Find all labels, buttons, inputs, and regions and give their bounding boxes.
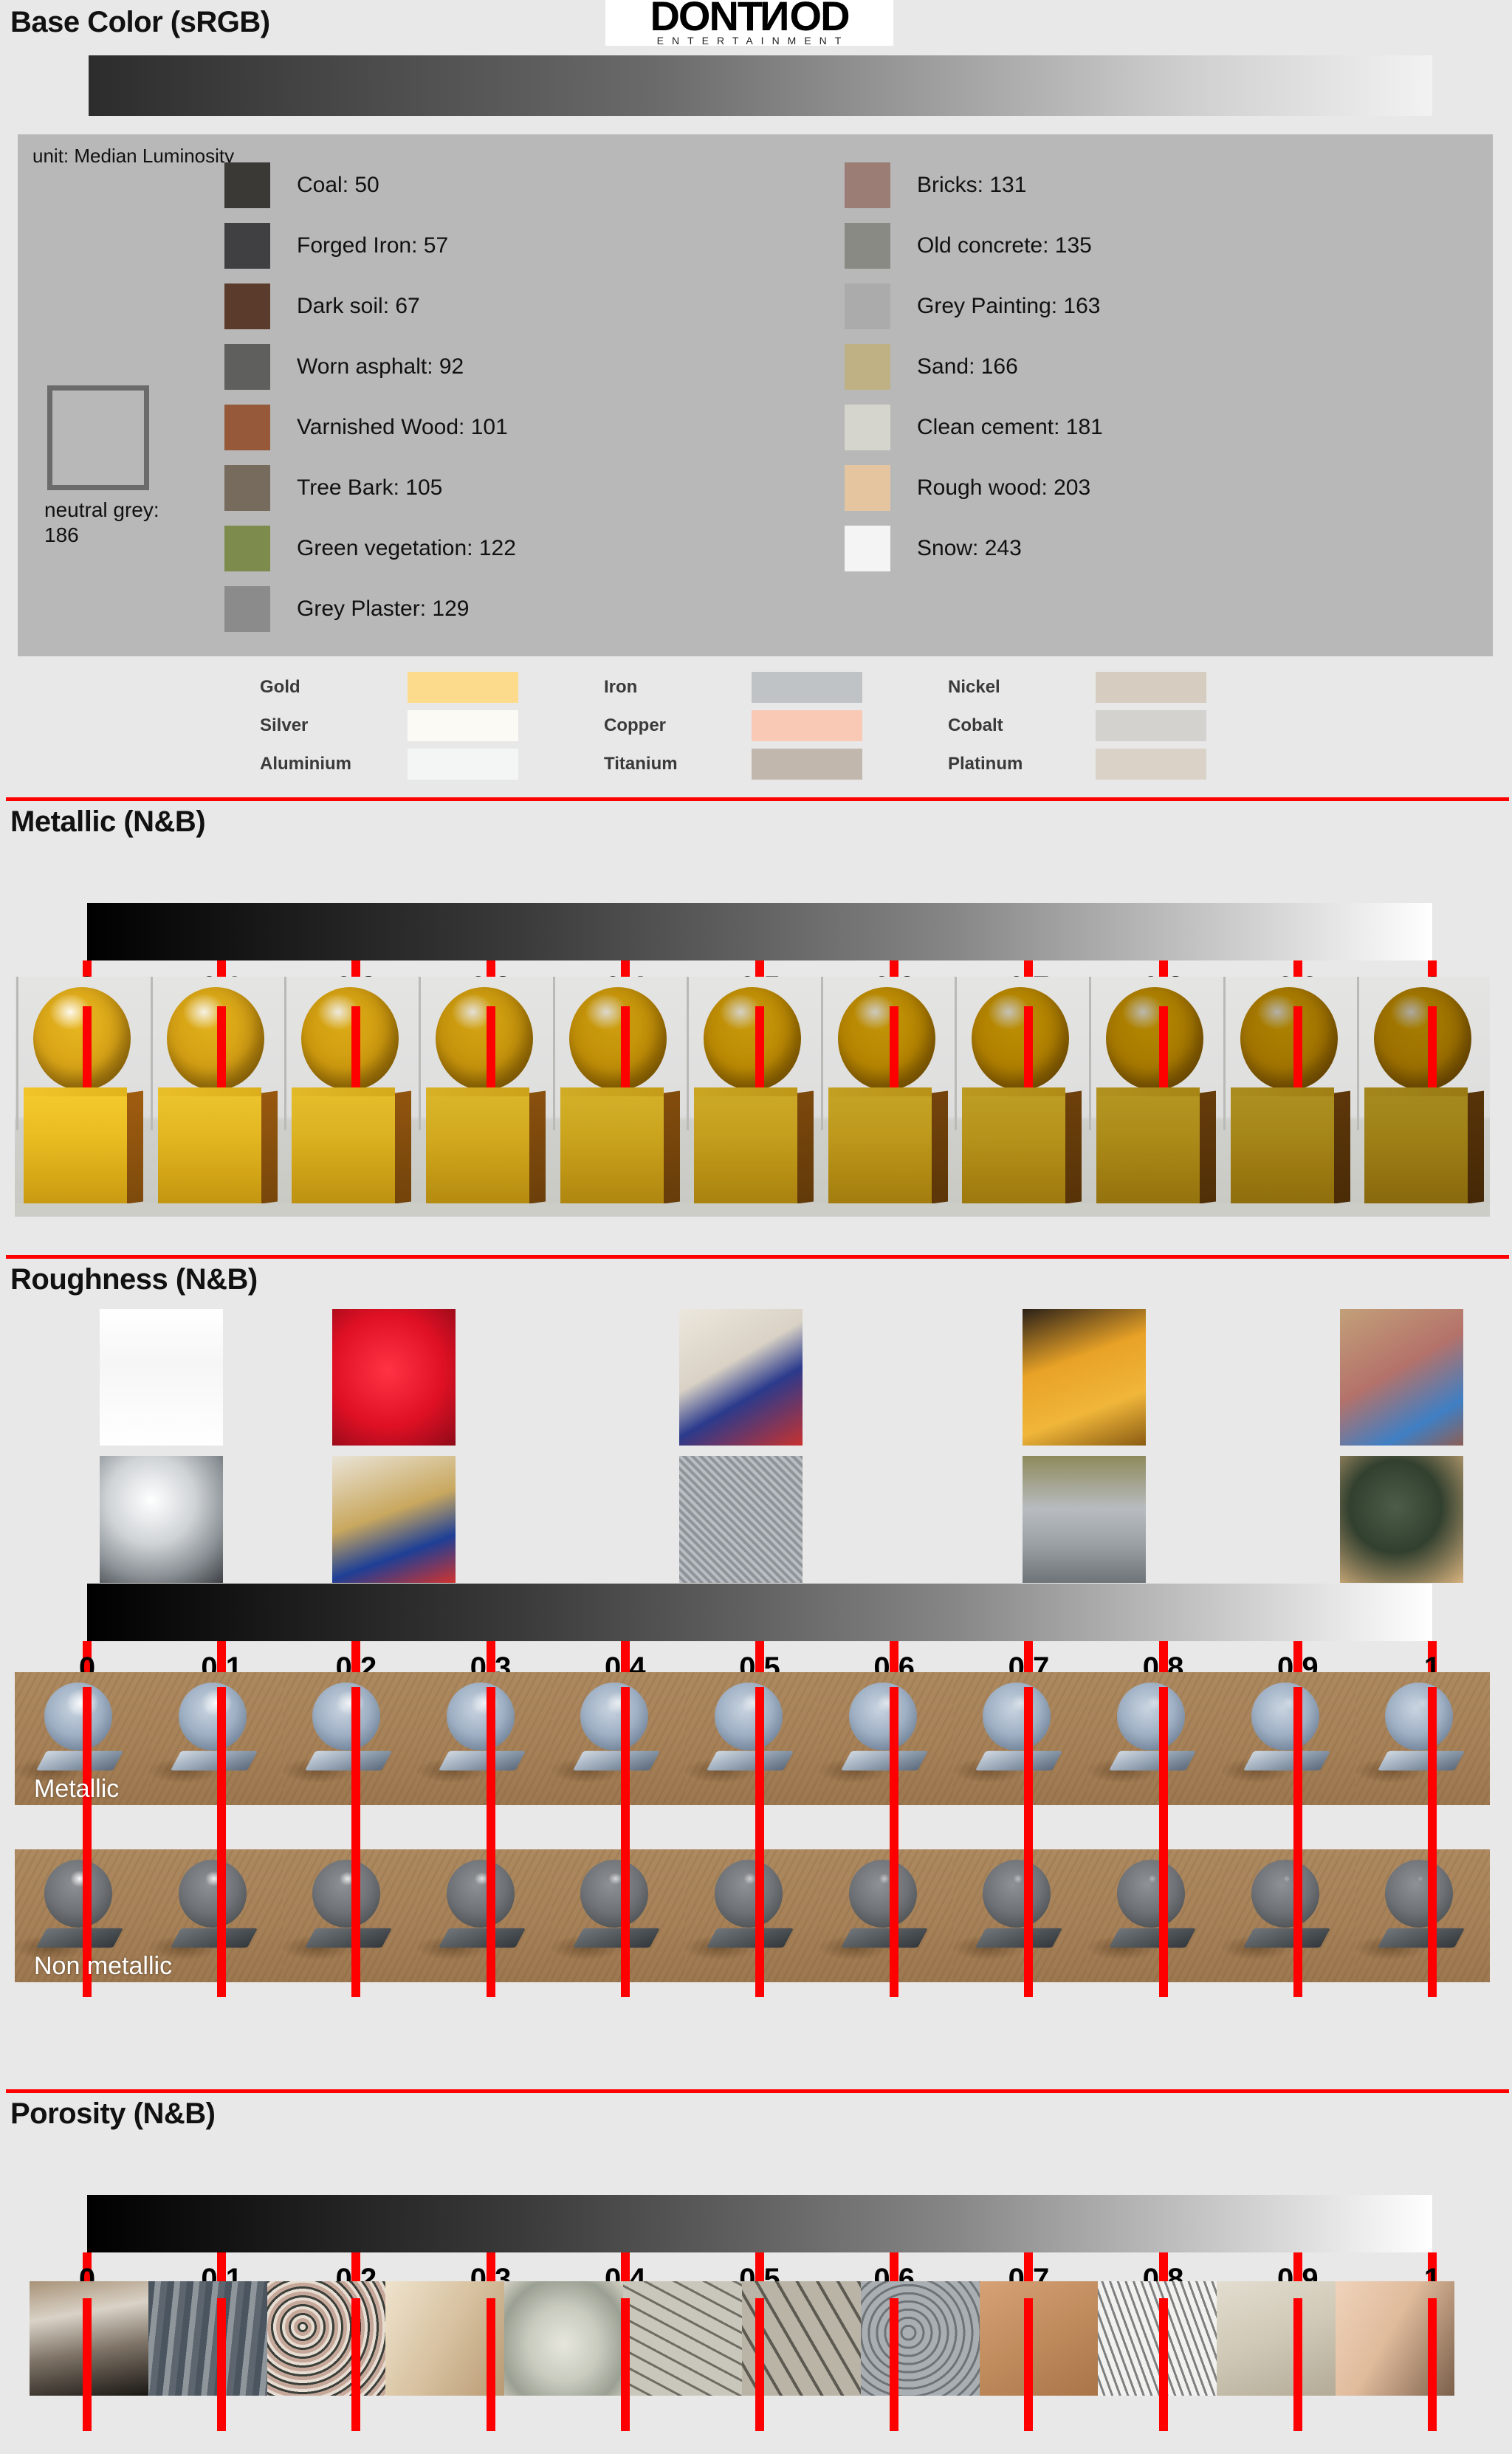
scale-tick-extension — [890, 1687, 898, 1997]
legend-row: Worn asphalt: 92 — [224, 337, 516, 397]
backdrop-seam — [821, 977, 823, 1130]
metal-cell: Nickel — [948, 672, 1292, 703]
logo-word-flipped-n: N — [761, 0, 789, 37]
metallic-cube-face — [1364, 1096, 1468, 1204]
material-ball — [983, 1683, 1051, 1750]
legend-row: Forged Iron: 57 — [224, 216, 516, 276]
metallic-sample — [1087, 977, 1222, 1217]
metallic-sample — [1355, 977, 1490, 1217]
logo-wordmark: DONTNOD — [605, 0, 893, 35]
metal-color-chip — [1096, 749, 1206, 780]
backdrop-seam — [1357, 977, 1359, 1130]
dontnod-logo: DONTNOD ENTERTAINMENT — [605, 0, 893, 46]
legend-label: Worn asphalt: 92 — [297, 354, 464, 379]
roughness-nonmetallic-sample — [1355, 1849, 1490, 1982]
material-plate — [975, 1751, 1062, 1770]
roughness-nonmetallic-sample — [685, 1849, 819, 1982]
roughness-nonmetallic-sample — [819, 1849, 954, 1982]
backdrop-seam — [419, 977, 421, 1130]
metallic-sample — [15, 977, 149, 1217]
metallic-cube-face — [1231, 1096, 1334, 1204]
reference-photo-blue-pink-eraser — [1340, 1309, 1463, 1446]
unit-label: unit: Median Luminosity — [32, 145, 234, 168]
roughness-nonmetallic-strip: Non metallic — [15, 1849, 1490, 1982]
scale-tick-extension — [1159, 1687, 1168, 1997]
metallic-sample — [1222, 977, 1356, 1217]
legend-row: Dark soil: 67 — [224, 276, 516, 337]
metallic-cube-face — [694, 1096, 797, 1204]
roughness-section: Roughness (N&B) 00.10.20.30.40.50.60.70.… — [0, 1255, 1512, 1296]
roughness-nonmetallic-sample — [417, 1849, 551, 1982]
metal-name: Aluminium — [260, 754, 408, 774]
porosity-texture-dry-sand — [1217, 2281, 1336, 2396]
metallic-cube-side — [797, 1090, 814, 1203]
legend-label: Grey Painting: 163 — [917, 294, 1100, 319]
roughness-metallic-sample — [551, 1672, 686, 1805]
metallic-cube-side — [395, 1090, 411, 1203]
logo-subtitle: ENTERTAINMENT — [605, 35, 893, 46]
metal-cell: Silver — [260, 710, 604, 741]
legend-color-swatch — [224, 344, 270, 390]
material-ball — [715, 1860, 783, 1928]
legend-color-swatch — [845, 465, 890, 511]
scale-tick-extension — [1293, 2298, 1302, 2431]
metallic-cube-side — [261, 1090, 278, 1203]
metal-name: Copper — [604, 715, 752, 736]
metallic-cube-side — [932, 1090, 948, 1203]
backdrop-seam — [16, 977, 18, 1130]
legend-color-swatch — [224, 162, 270, 208]
render-floor — [953, 1203, 1087, 1217]
material-plate — [1243, 1751, 1330, 1770]
scale-tick-extension — [890, 1006, 898, 1087]
metal-color-chip — [752, 749, 862, 780]
metallic-render-strip — [15, 977, 1490, 1217]
material-plate — [439, 1928, 526, 1948]
metal-cell: Titanium — [604, 749, 948, 780]
material-ball — [179, 1860, 247, 1928]
base-color-legend-panel: unit: Median Luminosity neutral grey: 18… — [18, 134, 1493, 656]
reference-photo-red-gift-bow — [332, 1309, 456, 1446]
metallic-cube-face — [560, 1096, 664, 1204]
legend-label: Sand: 166 — [917, 354, 1018, 379]
metal-color-chip — [752, 710, 862, 741]
legend-column-left: Coal: 50Forged Iron: 57Dark soil: 67Worn… — [224, 155, 516, 639]
legend-label: Clean cement: 181 — [917, 415, 1103, 440]
material-plate — [1378, 1928, 1465, 1948]
roughness-gradient-bar — [87, 1584, 1432, 1641]
backdrop-seam — [1223, 977, 1226, 1130]
metallic-sphere — [1374, 987, 1471, 1090]
neutral-grey-swatch — [47, 385, 149, 490]
legend-row: Rough wood: 203 — [845, 458, 1103, 518]
scale-tick-extension — [1024, 1687, 1033, 1997]
scale-tick-extension — [217, 2298, 226, 2431]
material-plate — [36, 1751, 123, 1770]
scale-tick-extension — [487, 1006, 495, 1087]
metal-cell: Gold — [260, 672, 604, 703]
metallic-sphere — [1240, 987, 1338, 1090]
render-floor — [1087, 1203, 1222, 1217]
metal-name: Iron — [604, 677, 752, 698]
metal-row: GoldIronNickel — [260, 668, 1293, 707]
material-plate — [573, 1751, 660, 1770]
metallic-cube-side — [664, 1090, 680, 1203]
metal-base-color-table: GoldIronNickelSilverCopperCobaltAluminiu… — [260, 668, 1293, 783]
scale-tick-extension — [487, 2298, 495, 2431]
legend-row: Varnished Wood: 101 — [224, 397, 516, 458]
metallic-cube-face — [292, 1096, 395, 1204]
scale-tick-extension — [1024, 2298, 1033, 2431]
legend-label: Old concrete: 135 — [917, 233, 1092, 258]
metal-cell: Cobalt — [948, 710, 1292, 741]
roughness-nonmetallic-sample — [953, 1849, 1087, 1982]
reference-photo-tarnished-coins — [1340, 1456, 1463, 1583]
material-plate — [36, 1928, 123, 1948]
legend-color-swatch — [224, 223, 270, 269]
metallic-sphere — [167, 987, 264, 1090]
material-plate — [707, 1928, 794, 1948]
metal-name: Titanium — [604, 754, 752, 774]
legend-color-swatch — [224, 526, 270, 571]
metallic-section: Metallic (N&B) 00.10.20.30.40.50.60.70.8… — [0, 797, 1512, 839]
legend-color-swatch — [224, 283, 270, 329]
legend-row: Old concrete: 135 — [845, 216, 1103, 276]
render-floor — [819, 1203, 954, 1217]
metallic-sphere — [33, 987, 131, 1090]
material-plate — [1109, 1928, 1196, 1948]
material-plate — [439, 1751, 526, 1770]
metallic-sample — [551, 977, 686, 1217]
material-ball — [983, 1860, 1051, 1928]
metallic-sample — [283, 977, 417, 1217]
material-ball — [715, 1683, 783, 1750]
legend-label: Grey Plaster: 129 — [297, 597, 469, 622]
legend-label: Forged Iron: 57 — [297, 233, 448, 258]
roughness-metallic-sample — [283, 1672, 417, 1805]
scale-tick-extension — [83, 1687, 92, 1997]
metallic-sphere — [436, 987, 533, 1090]
scale-tick-extension — [890, 2298, 898, 2431]
material-ball — [580, 1683, 648, 1750]
roughness-metallic-sample — [1222, 1672, 1356, 1805]
render-floor — [149, 1203, 283, 1217]
scale-tick-extension — [351, 1687, 360, 1997]
legend-label: Snow: 243 — [917, 536, 1022, 561]
material-plate — [707, 1751, 794, 1770]
material-ball — [312, 1683, 380, 1750]
metallic-cube-face — [828, 1096, 932, 1204]
material-ball — [1251, 1860, 1319, 1928]
metallic-cube-face — [24, 1096, 127, 1204]
material-plate — [975, 1928, 1062, 1948]
legend-color-swatch — [845, 405, 890, 450]
metal-name: Gold — [260, 677, 408, 698]
porosity-texture-river-pebbles — [861, 2281, 980, 2396]
material-plate — [305, 1751, 392, 1770]
material-plate — [1378, 1751, 1465, 1770]
metallic-cube-side — [1200, 1090, 1216, 1203]
legend-label: Bricks: 131 — [917, 173, 1026, 198]
reference-photo-galvanised-metal-pot — [1023, 1456, 1146, 1583]
metallic-sample — [819, 977, 954, 1217]
scale-tick-extension — [621, 1006, 630, 1087]
material-ball — [179, 1683, 247, 1750]
roughness-metallic-sample — [685, 1672, 819, 1805]
roughness-metallic-sample — [953, 1672, 1087, 1805]
porosity-texture-cracked-concrete — [623, 2281, 742, 2396]
material-plate — [171, 1751, 258, 1770]
roughness-nonmetallic-label: Non metallic — [34, 1952, 172, 1981]
backdrop-seam — [955, 977, 957, 1130]
scale-tick-extension — [1159, 2298, 1168, 2431]
legend-column-right: Bricks: 131Old concrete: 135Grey Paintin… — [845, 155, 1103, 579]
scale-tick-extension — [83, 1006, 92, 1087]
roughness-title: Roughness (N&B) — [0, 1259, 1512, 1296]
metal-cell: Copper — [604, 710, 948, 741]
backdrop-seam — [687, 977, 689, 1130]
legend-color-swatch — [845, 162, 890, 208]
render-floor — [283, 1203, 417, 1217]
logo-word-right: OD — [790, 0, 849, 39]
roughness-metallic-sample — [417, 1672, 551, 1805]
scale-tick-extension — [487, 1687, 495, 1997]
legend-label: Varnished Wood: 101 — [297, 415, 508, 440]
material-plate — [305, 1928, 392, 1948]
scale-tick-extension — [1428, 2298, 1437, 2431]
metallic-cube-side — [1065, 1090, 1082, 1203]
material-ball — [849, 1860, 917, 1928]
legend-row: Bricks: 131 — [845, 155, 1103, 216]
metallic-sphere — [569, 987, 667, 1090]
porosity-texture-strip — [30, 2281, 1454, 2396]
porosity-section: Porosity (N&B) 00.10.20.30.40.50.60.70.8… — [0, 2089, 1512, 2131]
material-ball — [1117, 1683, 1185, 1750]
legend-color-swatch — [845, 344, 890, 390]
scale-tick-extension — [1293, 1006, 1302, 1087]
metallic-sphere — [301, 987, 399, 1090]
metallic-sample — [149, 977, 283, 1217]
roughness-metallic-strip: Metallic — [15, 1672, 1490, 1805]
metallic-gradient-bar — [87, 903, 1432, 960]
backdrop-seam — [151, 977, 153, 1130]
material-ball — [1117, 1860, 1185, 1928]
material-ball — [44, 1683, 112, 1750]
scale-tick-extension — [755, 1687, 764, 1997]
legend-row: Tree Bark: 105 — [224, 458, 516, 518]
legend-label: Coal: 50 — [297, 173, 379, 198]
roughness-metallic-sample — [1087, 1672, 1222, 1805]
metal-cell: Iron — [604, 672, 948, 703]
reference-photo-pen-tip-metal — [332, 1456, 456, 1583]
backdrop-seam — [284, 977, 286, 1130]
reference-photo-chrome-sphere — [100, 1456, 223, 1583]
reference-photo-drinking-glass — [100, 1309, 223, 1446]
metal-row: AluminiumTitaniumPlatinum — [260, 745, 1293, 783]
roughness-metallic-sample — [819, 1672, 954, 1805]
scale-tick-extension — [83, 2298, 92, 2431]
legend-row: Grey Plaster: 129 — [224, 579, 516, 639]
material-ball — [1251, 1683, 1319, 1750]
legend-row: Grey Painting: 163 — [845, 276, 1103, 337]
roughness-metallic-sample — [1355, 1672, 1490, 1805]
roughness-nonmetallic-sample — [283, 1849, 417, 1982]
metal-name: Nickel — [948, 677, 1096, 698]
metal-cell: Aluminium — [260, 749, 604, 780]
scale-tick-extension — [621, 2298, 630, 2431]
scale-tick-extension — [1024, 1006, 1033, 1087]
backdrop-seam — [553, 977, 555, 1130]
metallic-sphere — [704, 987, 801, 1090]
scale-tick-extension — [351, 1006, 360, 1087]
material-ball — [580, 1860, 648, 1928]
metal-name: Cobalt — [948, 715, 1096, 736]
metal-name: Silver — [260, 715, 408, 736]
legend-row: Coal: 50 — [224, 155, 516, 216]
metallic-cube-side — [1468, 1090, 1484, 1203]
legend-color-swatch — [845, 223, 890, 269]
legend-label: Dark soil: 67 — [297, 294, 420, 319]
porosity-texture-split-slate — [148, 2281, 267, 2396]
reference-photo-orange-plastic-cap — [1023, 1309, 1146, 1446]
porosity-texture-speckled-granite — [267, 2281, 386, 2396]
metallic-title: Metallic (N&B) — [0, 801, 1512, 839]
metal-color-chip — [408, 672, 518, 703]
material-ball — [312, 1860, 380, 1928]
legend-color-swatch — [224, 465, 270, 511]
metal-color-chip — [408, 749, 518, 780]
legend-color-swatch — [224, 586, 270, 632]
backdrop-seam — [1089, 977, 1091, 1130]
scale-tick-extension — [1159, 1006, 1168, 1087]
metal-cell: Platinum — [948, 749, 1292, 780]
legend-color-swatch — [845, 526, 890, 571]
material-plate — [171, 1928, 258, 1948]
roughness-metallic-label: Metallic — [34, 1775, 119, 1804]
metal-row: SilverCopperCobalt — [260, 707, 1293, 745]
metal-color-chip — [1096, 710, 1206, 741]
material-plate — [573, 1928, 660, 1948]
render-floor — [15, 1203, 149, 1217]
legend-row: Snow: 243 — [845, 518, 1103, 579]
metallic-sample — [953, 977, 1087, 1217]
material-plate — [1243, 1928, 1330, 1948]
logo-word-left: DONT — [650, 0, 761, 39]
metallic-cube-side — [529, 1090, 546, 1203]
legend-label: Green vegetation: 122 — [297, 536, 516, 561]
roughness-nonmetallic-sample — [551, 1849, 686, 1982]
legend-row: Sand: 166 — [845, 337, 1103, 397]
legend-color-swatch — [224, 405, 270, 450]
material-plate — [1109, 1751, 1196, 1770]
scale-tick-extension — [755, 2298, 764, 2431]
porosity-texture-red-sandstone — [980, 2281, 1099, 2396]
material-ball — [1385, 1683, 1453, 1750]
porosity-gradient-bar — [87, 2195, 1432, 2252]
page-title: Base Color (sRGB) — [0, 6, 270, 39]
scale-tick-extension — [621, 1687, 630, 1997]
base-color-section: Base Color (sRGB) DONTNOD ENTERTAINMENT … — [0, 0, 1512, 790]
neutral-grey-label: neutral grey: 186 — [44, 498, 170, 548]
metallic-sample — [685, 977, 819, 1217]
reference-photo-perforated-metal-colander — [679, 1456, 803, 1583]
scale-tick-extension — [755, 1006, 764, 1087]
scale-tick-extension — [1428, 1006, 1437, 1087]
metallic-sphere — [838, 987, 935, 1090]
metallic-sample — [417, 977, 551, 1217]
porosity-texture-snow-dirt — [1098, 2281, 1217, 2396]
porosity-texture-wet-clay-on-wheel — [504, 2281, 623, 2396]
reference-photo-ballpoint-pens-on-paper — [679, 1309, 803, 1446]
material-ball — [849, 1683, 917, 1750]
legend-row: Green vegetation: 122 — [224, 518, 516, 579]
material-plate — [841, 1928, 928, 1948]
legend-color-swatch — [845, 283, 890, 329]
metal-name: Platinum — [948, 754, 1096, 774]
metal-color-chip — [752, 672, 862, 703]
scale-tick-extension — [1428, 1687, 1437, 1997]
render-floor — [685, 1203, 819, 1217]
render-floor — [1222, 1203, 1356, 1217]
metallic-cube-face — [158, 1096, 261, 1204]
metal-color-chip — [1096, 672, 1206, 703]
legend-label: Tree Bark: 105 — [297, 475, 442, 501]
porosity-title: Porosity (N&B) — [0, 2093, 1512, 2131]
roughness-nonmetallic-sample — [1087, 1849, 1222, 1982]
scale-tick-extension — [1293, 1687, 1302, 1997]
roughness-metallic-sample — [149, 1672, 283, 1805]
metal-color-chip — [408, 710, 518, 741]
render-floor — [551, 1203, 686, 1217]
legend-label: Rough wood: 203 — [917, 475, 1090, 501]
material-ball — [447, 1860, 515, 1928]
render-floor — [1355, 1203, 1490, 1217]
metallic-cube-side — [1334, 1090, 1350, 1203]
material-ball — [447, 1683, 515, 1750]
metallic-sphere — [972, 987, 1069, 1090]
legend-row: Clean cement: 181 — [845, 397, 1103, 458]
scale-tick-extension — [217, 1006, 226, 1087]
material-ball — [44, 1860, 112, 1928]
render-floor — [417, 1203, 551, 1217]
scale-tick-extension — [217, 1687, 226, 1997]
metallic-cube-face — [1096, 1096, 1200, 1204]
roughness-nonmetallic-sample — [1222, 1849, 1356, 1982]
metallic-cube-side — [127, 1090, 143, 1203]
metallic-cube-face — [962, 1096, 1065, 1204]
base-color-gradient-bar — [89, 55, 1432, 116]
metallic-cube-face — [426, 1096, 529, 1204]
metallic-sphere — [1106, 987, 1203, 1090]
material-ball — [1385, 1860, 1453, 1928]
material-plate — [841, 1751, 928, 1770]
scale-tick-extension — [351, 2298, 360, 2431]
